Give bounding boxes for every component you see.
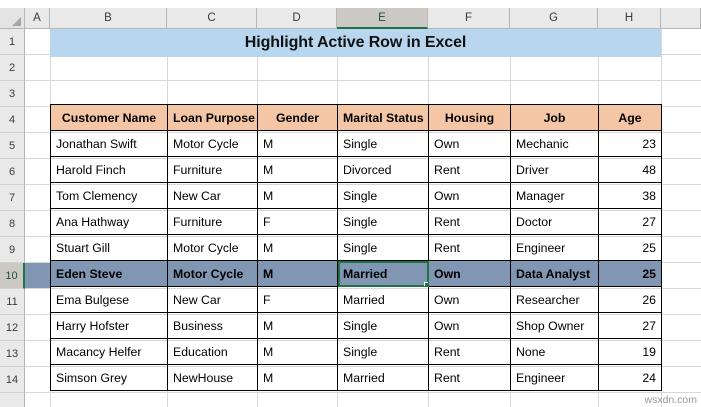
- cell-housing[interactable]: Rent: [429, 209, 511, 235]
- table-row[interactable]: Harold FinchFurnitureMDivorcedRentDriver…: [51, 157, 662, 183]
- cell-customer-name[interactable]: Harry Hofster: [51, 313, 168, 339]
- cell-marital-status[interactable]: Single: [338, 183, 429, 209]
- table-column-header[interactable]: Gender: [258, 105, 338, 131]
- cell-age[interactable]: 24: [599, 365, 662, 391]
- cell-housing[interactable]: Own: [429, 183, 511, 209]
- column-header-strip: ABCDEFGH: [0, 8, 701, 29]
- row-header-4[interactable]: 4: [0, 107, 25, 133]
- cell-age[interactable]: 25: [599, 261, 662, 287]
- cell-loan-purpose[interactable]: Motor Cycle: [168, 235, 258, 261]
- cell-age[interactable]: 27: [599, 313, 662, 339]
- cell-marital-status[interactable]: Divorced: [338, 157, 429, 183]
- cell-job[interactable]: Driver: [511, 157, 599, 183]
- table-body: Jonathan SwiftMotor CycleMSingleOwnMecha…: [51, 131, 662, 391]
- table-column-header[interactable]: Job: [511, 105, 599, 131]
- table-column-header[interactable]: Loan Purpose: [168, 105, 258, 131]
- row-header-5[interactable]: 5: [0, 133, 25, 159]
- column-header-c[interactable]: C: [167, 8, 257, 29]
- grid-line-horizontal: [25, 392, 701, 393]
- column-header-d[interactable]: D: [257, 8, 337, 29]
- cell-loan-purpose[interactable]: Furniture: [168, 209, 258, 235]
- cell-loan-purpose[interactable]: Motor Cycle: [168, 131, 258, 157]
- cell-job[interactable]: Shop Owner: [511, 313, 599, 339]
- select-all-button[interactable]: [0, 8, 25, 29]
- column-header-h[interactable]: H: [598, 8, 661, 29]
- cell-customer-name[interactable]: Harold Finch: [51, 157, 168, 183]
- row-header-12[interactable]: 12: [0, 315, 25, 341]
- cell-gender[interactable]: M: [258, 183, 338, 209]
- column-header-a[interactable]: A: [25, 8, 50, 29]
- cell-gender[interactable]: M: [258, 313, 338, 339]
- cell-housing[interactable]: Rent: [429, 339, 511, 365]
- table-column-header[interactable]: Marital Status: [338, 105, 429, 131]
- row-header-9[interactable]: 9: [0, 237, 25, 263]
- table-column-header[interactable]: Age: [599, 105, 662, 131]
- cell-age[interactable]: 48: [599, 157, 662, 183]
- cell-customer-name[interactable]: Jonathan Swift: [51, 131, 168, 157]
- cell-age[interactable]: 26: [599, 287, 662, 313]
- cell-marital-status[interactable]: Married: [338, 261, 429, 287]
- table-row[interactable]: Harry HofsterBusinessMSingleOwnShop Owne…: [51, 313, 662, 339]
- cell-loan-purpose[interactable]: NewHouse: [168, 365, 258, 391]
- cell-marital-status[interactable]: Married: [338, 365, 429, 391]
- row-header-1[interactable]: 1: [0, 29, 25, 55]
- cell-age[interactable]: 19: [599, 339, 662, 365]
- table-row[interactable]: Simson GreyNewHouseMMarriedRentEngineer2…: [51, 365, 662, 391]
- spreadsheet-canvas: ABCDEFGH 1234567891011121314 Highlight A…: [0, 0, 701, 407]
- table-row[interactable]: Ana HathwayFurnitureFSingleRentDoctor27: [51, 209, 662, 235]
- table-row[interactable]: Stuart GillMotor CycleMSingleRentEnginee…: [51, 235, 662, 261]
- cell-marital-status[interactable]: Single: [338, 131, 429, 157]
- row-header-strip: 1234567891011121314: [0, 29, 25, 407]
- cell-gender[interactable]: M: [258, 339, 338, 365]
- column-header-filler: [661, 8, 701, 29]
- cell-customer-name[interactable]: Macancy Helfer: [51, 339, 168, 365]
- cell-gender[interactable]: M: [258, 365, 338, 391]
- cell-job[interactable]: Manager: [511, 183, 599, 209]
- column-header-b[interactable]: B: [50, 8, 167, 29]
- cell-gender[interactable]: F: [258, 287, 338, 313]
- cell-age[interactable]: 25: [599, 235, 662, 261]
- row-header-7[interactable]: 7: [0, 185, 25, 211]
- cell-job[interactable]: None: [511, 339, 599, 365]
- cell-age[interactable]: 38: [599, 183, 662, 209]
- cell-housing[interactable]: Rent: [429, 235, 511, 261]
- title-banner[interactable]: Highlight Active Row in Excel: [50, 29, 661, 57]
- cell-age[interactable]: 27: [599, 209, 662, 235]
- cell-gender[interactable]: M: [258, 131, 338, 157]
- table-header-row: Customer NameLoan PurposeGenderMarital S…: [51, 105, 662, 131]
- select-all-triangle-icon: [12, 17, 21, 26]
- cell-gender[interactable]: M: [258, 261, 338, 287]
- cell-marital-status[interactable]: Single: [338, 339, 429, 365]
- cell-customer-name[interactable]: Eden Steve: [51, 261, 168, 287]
- table-column-header[interactable]: Housing: [429, 105, 511, 131]
- cell-marital-status[interactable]: Single: [338, 313, 429, 339]
- row-header-filler: [0, 393, 25, 407]
- cell-loan-purpose[interactable]: New Car: [168, 287, 258, 313]
- cell-housing[interactable]: Own: [429, 131, 511, 157]
- cell-job[interactable]: Mechanic: [511, 131, 599, 157]
- cell-housing[interactable]: Rent: [429, 157, 511, 183]
- cell-job[interactable]: Researcher: [511, 287, 599, 313]
- column-header-g[interactable]: G: [510, 8, 598, 29]
- cell-job[interactable]: Engineer: [511, 365, 599, 391]
- grid-line-horizontal: [25, 80, 701, 81]
- cell-loan-purpose[interactable]: Education: [168, 339, 258, 365]
- cell-customer-name[interactable]: Tom Clemency: [51, 183, 168, 209]
- cell-job[interactable]: Engineer: [511, 235, 599, 261]
- row-header-13[interactable]: 13: [0, 341, 25, 367]
- row-header-11[interactable]: 11: [0, 289, 25, 315]
- table-row[interactable]: Jonathan SwiftMotor CycleMSingleOwnMecha…: [51, 131, 662, 157]
- watermark: wsxdn.com: [644, 394, 697, 406]
- cell-loan-purpose[interactable]: Business: [168, 313, 258, 339]
- table-column-header[interactable]: Customer Name: [51, 105, 168, 131]
- table-row[interactable]: Tom ClemencyNew CarMSingleOwnManager38: [51, 183, 662, 209]
- cell-loan-purpose[interactable]: Furniture: [168, 157, 258, 183]
- cell-housing[interactable]: Own: [429, 287, 511, 313]
- cell-age[interactable]: 23: [599, 131, 662, 157]
- row-header-10[interactable]: 10: [0, 263, 25, 289]
- column-header-e[interactable]: E: [337, 8, 428, 29]
- cell-marital-status[interactable]: Single: [338, 235, 429, 261]
- column-header-f[interactable]: F: [428, 8, 510, 29]
- customer-loan-table: Customer NameLoan PurposeGenderMarital S…: [50, 104, 662, 391]
- cell-job[interactable]: Data Analyst: [511, 261, 599, 287]
- cell-job[interactable]: Doctor: [511, 209, 599, 235]
- cell-gender[interactable]: M: [258, 235, 338, 261]
- row-header-14[interactable]: 14: [0, 367, 25, 393]
- row-header-6[interactable]: 6: [0, 159, 25, 185]
- cell-housing[interactable]: Own: [429, 261, 511, 287]
- row-header-3[interactable]: 3: [0, 81, 25, 107]
- cell-housing[interactable]: Rent: [429, 365, 511, 391]
- row-header-2[interactable]: 2: [0, 55, 25, 81]
- page-title: Highlight Active Row in Excel: [245, 34, 466, 52]
- cell-gender[interactable]: M: [258, 157, 338, 183]
- row-header-8[interactable]: 8: [0, 211, 25, 237]
- table-row[interactable]: Ema BulgeseNew CarFMarriedOwnResearcher2…: [51, 287, 662, 313]
- cell-customer-name[interactable]: Simson Grey: [51, 365, 168, 391]
- cell-marital-status[interactable]: Single: [338, 209, 429, 235]
- table-row[interactable]: Macancy HelferEducationMSingleRentNone19: [51, 339, 662, 365]
- active-row-band: [25, 263, 50, 288]
- cell-loan-purpose[interactable]: Motor Cycle: [168, 261, 258, 287]
- cell-customer-name[interactable]: Ana Hathway: [51, 209, 168, 235]
- cell-customer-name[interactable]: Stuart Gill: [51, 235, 168, 261]
- cell-housing[interactable]: Own: [429, 313, 511, 339]
- table-row[interactable]: Eden SteveMotor CycleMMarriedOwnData Ana…: [51, 261, 662, 287]
- cell-loan-purpose[interactable]: New Car: [168, 183, 258, 209]
- cell-gender[interactable]: F: [258, 209, 338, 235]
- cell-marital-status[interactable]: Married: [338, 287, 429, 313]
- cell-customer-name[interactable]: Ema Bulgese: [51, 287, 168, 313]
